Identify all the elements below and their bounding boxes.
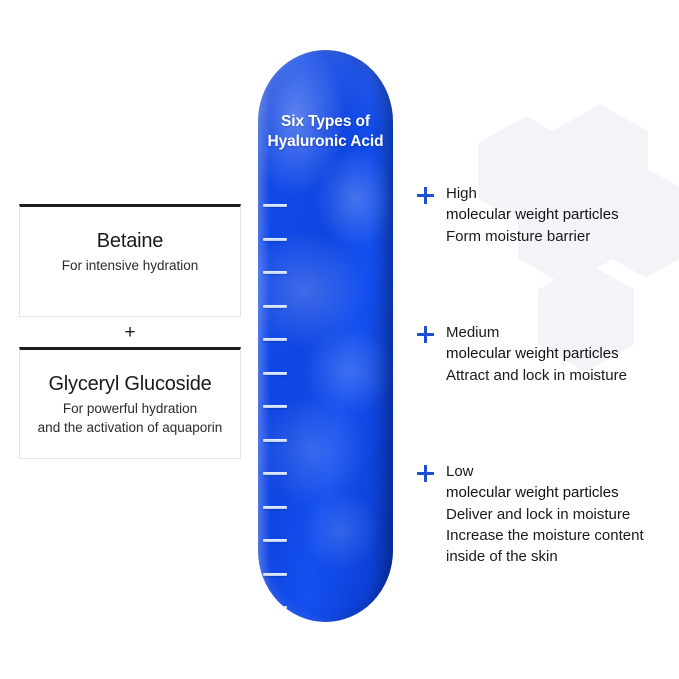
tube-tick-mark (263, 539, 287, 542)
feature-benefit-line: Attract and lock in moisture (446, 365, 627, 386)
ingredient-name: Glyceryl Glucoside (28, 372, 232, 397)
tube-title-line-2: Hyaluronic Acid (258, 132, 393, 152)
plus-icon (417, 465, 434, 482)
infographic-root: Betaine For intensive hydration + Glycer… (0, 0, 679, 679)
tube-title-line-1: Six Types of (258, 112, 393, 132)
tube-tick-mark (263, 439, 287, 442)
tube-title: Six Types of Hyaluronic Acid (258, 112, 393, 152)
tube-tick-mark (263, 238, 287, 241)
ingredient-separator-plus: + (19, 317, 241, 347)
feature-benefit-line: Increase the moisture content (446, 525, 644, 546)
tube-tick-mark (263, 271, 287, 274)
feature-text: Low molecular weight particles Deliver a… (446, 461, 644, 567)
ingredient-description: For intensive hydration (28, 257, 232, 276)
feature-text: High molecular weight particles Form moi… (446, 183, 619, 247)
ingredients-column: Betaine For intensive hydration + Glycer… (19, 204, 241, 459)
feature-size-label: Low (446, 461, 644, 482)
feature-item-medium: Medium molecular weight particles Attrac… (417, 322, 627, 386)
tube-tick-mark (263, 606, 287, 609)
plus-icon (417, 187, 434, 204)
feature-particle-label: molecular weight particles (446, 482, 644, 503)
tube-tick-mark (263, 573, 287, 576)
tube-tick-mark (263, 472, 287, 475)
hyaluronic-acid-tube: Six Types of Hyaluronic Acid (258, 50, 393, 622)
feature-text: Medium molecular weight particles Attrac… (446, 322, 627, 386)
tube-tick-mark (263, 372, 287, 375)
feature-particle-label: molecular weight particles (446, 204, 619, 225)
ingredient-card-glyceryl-glucoside: Glyceryl Glucoside For powerful hydratio… (19, 347, 241, 459)
ingredient-description-line-1: For powerful hydration (28, 400, 232, 419)
tube-tick-mark (263, 305, 287, 308)
feature-item-high: High molecular weight particles Form moi… (417, 183, 619, 247)
feature-benefit-line: Deliver and lock in moisture (446, 504, 644, 525)
tube-tick-mark (263, 405, 287, 408)
tube-tick-mark (263, 506, 287, 509)
ingredient-card-betaine: Betaine For intensive hydration (19, 204, 241, 317)
feature-benefit-line: inside of the skin (446, 546, 644, 567)
feature-size-label: High (446, 183, 619, 204)
feature-benefit-line: Form moisture barrier (446, 226, 619, 247)
feature-size-label: Medium (446, 322, 627, 343)
ingredient-description-line-2: and the activation of aquaporin (28, 419, 232, 438)
ingredient-name: Betaine (28, 229, 232, 254)
plus-icon (417, 326, 434, 343)
feature-item-low: Low molecular weight particles Deliver a… (417, 461, 644, 567)
tube-tick-mark (263, 338, 287, 341)
tube-tick-mark (263, 204, 287, 207)
feature-particle-label: molecular weight particles (446, 343, 627, 364)
